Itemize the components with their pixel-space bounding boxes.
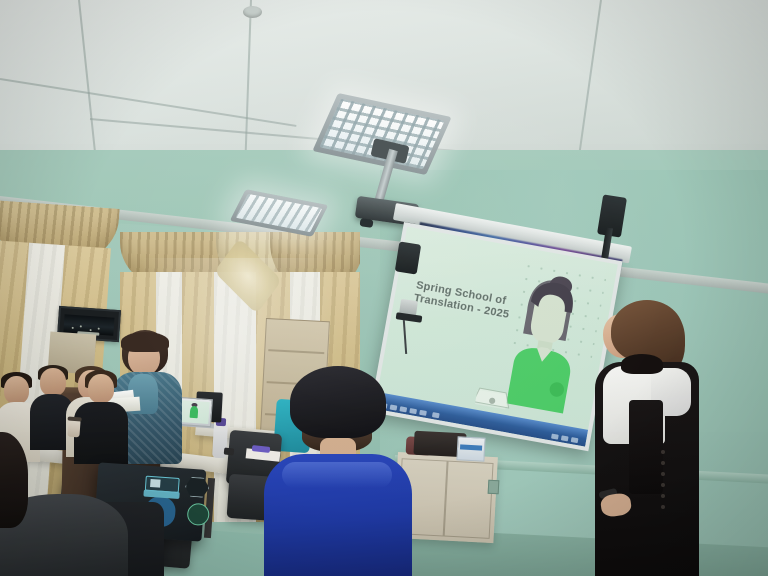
ceiling-seam: [0, 78, 296, 127]
attendee-beanie-hat: [290, 366, 386, 438]
wall-speaker: [395, 241, 421, 274]
standing-woman-right: [585, 300, 705, 576]
box-on-cabinet: [456, 436, 485, 461]
small-object-on-desk: [224, 447, 235, 455]
audience-head: [4, 376, 29, 404]
presenter-hair-front: [121, 332, 169, 352]
projector-lens-icon: [360, 218, 374, 228]
graduation-cap-icon: [143, 490, 179, 499]
cabinet-door[interactable]: [444, 461, 494, 539]
woman-hair: [611, 300, 683, 362]
classroom-photo: Spring School of Translation - 2025: [0, 0, 768, 576]
foreground-attendee: [0, 432, 120, 576]
laptop-slide-figure: [189, 406, 198, 418]
wall-socket: [488, 480, 500, 495]
seated-attendee-blue-jacket: [264, 366, 412, 576]
ceiling-seam: [576, 0, 602, 168]
audience-head: [88, 374, 114, 403]
cup-lid: [68, 417, 82, 422]
dress-black-panel: [629, 400, 663, 494]
box-label: [460, 444, 482, 450]
woman-collar: [621, 354, 663, 374]
audience-head: [40, 368, 66, 396]
ceiling-sensor: [243, 6, 262, 18]
jacket-highlight: [282, 462, 392, 488]
foreground-hair: [0, 432, 28, 528]
slide-illustration: [474, 259, 603, 430]
dress-buttons: [661, 450, 669, 510]
sticker-detail: [150, 479, 161, 488]
